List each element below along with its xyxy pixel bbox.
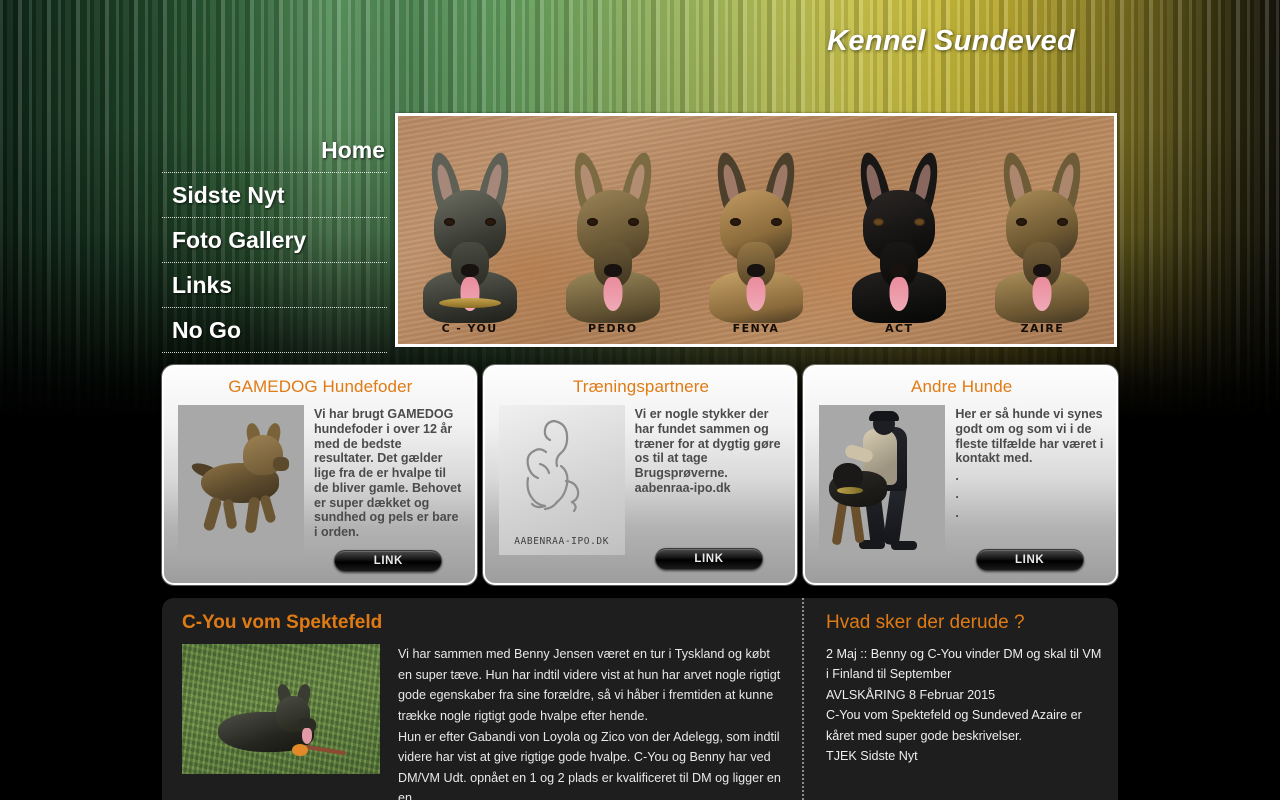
hero-banner-photo: C - YOU PEDRO bbox=[398, 116, 1114, 344]
nav-item-links[interactable]: Links bbox=[162, 263, 387, 308]
nav-item-no-go[interactable]: No Go bbox=[162, 308, 387, 353]
dog-name-label: PEDRO bbox=[541, 322, 684, 335]
card-title: Træningspartnere bbox=[499, 377, 784, 397]
bottom-content-panel: C-You vom Spektefeld Vi har sammen med B… bbox=[162, 598, 1118, 800]
hero-dog-c-you: C - YOU bbox=[398, 116, 541, 344]
bite-work-illustration bbox=[819, 405, 945, 555]
hero-dog-portraits: C - YOU PEDRO bbox=[398, 116, 1114, 344]
nav-item-label: Sidste Nyt bbox=[172, 182, 284, 209]
feature-paragraph-1: Vi har sammen med Benny Jensen været en … bbox=[398, 644, 782, 727]
nav-item-foto-gallery[interactable]: Foto Gallery bbox=[162, 218, 387, 263]
card-description: Vi er nogle stykker der har fundet samme… bbox=[635, 405, 784, 496]
nav-item-label: No Go bbox=[172, 317, 241, 344]
dog-name-label: ACT bbox=[828, 322, 971, 335]
dog-head-illustration bbox=[851, 146, 947, 316]
dog-name-label: ZAIRE bbox=[971, 322, 1114, 335]
nav-item-label: Foto Gallery bbox=[172, 227, 306, 254]
page-title: Kennel Sundeved bbox=[0, 25, 1075, 58]
card-bullet-2: . bbox=[955, 484, 1104, 502]
card-andre-hunde[interactable]: Andre Hunde Her er så hunde vi synes god… bbox=[803, 365, 1118, 585]
lying-dog-illustration bbox=[218, 688, 342, 762]
card-thumbnail-ipo-logo: AABENRAA-IPO.DK bbox=[499, 405, 625, 555]
news-title: Hvad sker der derude ? bbox=[826, 612, 1102, 634]
card-thumbnail-bite-work bbox=[819, 405, 945, 555]
running-dog-illustration bbox=[195, 421, 287, 541]
dog-head-illustration bbox=[565, 146, 661, 316]
feature-photo-dog-on-grass bbox=[182, 644, 380, 774]
news-item[interactable]: TJEK Sidste Nyt bbox=[826, 746, 1102, 766]
card-thumbnail-running-dog bbox=[178, 405, 304, 555]
card-bullet-1: . bbox=[955, 466, 1104, 484]
main-navigation: Home Sidste Nyt Foto Gallery Links No Go bbox=[162, 128, 387, 353]
feature-paragraph-2: Hun er efter Gabandi von Loyola og Zico … bbox=[398, 727, 782, 800]
card-gamedog-hundefoder[interactable]: GAMEDOG Hundefoder Vi har brugt GAMEDOG … bbox=[162, 365, 477, 585]
card-link-button[interactable]: LINK bbox=[655, 548, 763, 570]
hero-dog-fenya: FENYA bbox=[684, 116, 827, 344]
news-item: C-You vom Spektefeld og Sundeved Azaire … bbox=[826, 705, 1102, 746]
dog-name-label: FENYA bbox=[684, 322, 827, 335]
nav-item-label: Home bbox=[321, 137, 387, 164]
aabenraa-ipo-logo-icon: AABENRAA-IPO.DK bbox=[499, 405, 625, 555]
hero-banner: C - YOU PEDRO bbox=[395, 113, 1117, 347]
dog-name-label: C - YOU bbox=[398, 322, 541, 335]
dog-head-illustration bbox=[708, 146, 804, 316]
feature-title: C-You vom Spektefeld bbox=[182, 612, 782, 634]
dog-head-illustration bbox=[422, 146, 518, 316]
feature-cards-row: GAMEDOG Hundefoder Vi har brugt GAMEDOG … bbox=[162, 365, 1118, 585]
news-item: 2 Maj :: Benny og C-You vinder DM og ska… bbox=[826, 644, 1102, 685]
card-link-button[interactable]: LINK bbox=[334, 550, 442, 572]
nav-item-home[interactable]: Home bbox=[162, 128, 387, 173]
news-column: Hvad sker der derude ? 2 Maj :: Benny og… bbox=[802, 598, 1118, 800]
feature-article: C-You vom Spektefeld Vi har sammen med B… bbox=[162, 598, 802, 800]
dog-head-illustration bbox=[994, 146, 1090, 316]
card-link-button[interactable]: LINK bbox=[976, 549, 1084, 571]
card-description: Her er så hunde vi synes godt om og som … bbox=[955, 405, 1104, 466]
news-item: AVLSKÅRING 8 Februar 2015 bbox=[826, 685, 1102, 705]
card-traeningspartnere[interactable]: Træningspartnere bbox=[483, 365, 798, 585]
hero-dog-zaire: ZAIRE bbox=[971, 116, 1114, 344]
nav-item-label: Links bbox=[172, 272, 232, 299]
thumbnail-caption: AABENRAA-IPO.DK bbox=[499, 536, 625, 547]
card-title: Andre Hunde bbox=[819, 377, 1104, 397]
card-title: GAMEDOG Hundefoder bbox=[178, 377, 463, 397]
hero-dog-act: ACT bbox=[828, 116, 971, 344]
hero-dog-pedro: PEDRO bbox=[541, 116, 684, 344]
card-description: Vi har brugt GAMEDOG hundefoder i over 1… bbox=[314, 405, 463, 540]
card-bullet-3: . bbox=[955, 503, 1104, 521]
nav-item-sidste-nyt[interactable]: Sidste Nyt bbox=[162, 173, 387, 218]
